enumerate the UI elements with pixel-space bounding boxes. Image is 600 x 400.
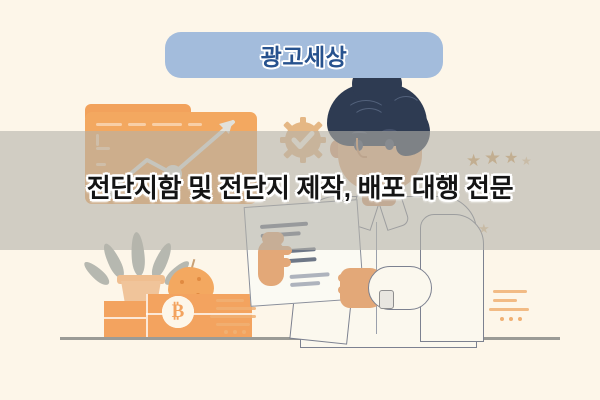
box-seam	[146, 294, 148, 337]
person-hair-strand	[352, 108, 386, 132]
document-line	[290, 281, 320, 287]
receipt-line	[216, 307, 256, 310]
receipt-line	[216, 299, 244, 302]
bitcoin-icon: ₿	[162, 296, 194, 328]
person-finger	[338, 274, 368, 282]
person-cuff	[368, 266, 432, 310]
pear-dot	[197, 277, 201, 281]
receipt-dot	[509, 317, 513, 321]
person-finger	[338, 286, 366, 294]
receipt-dot	[500, 317, 504, 321]
receipt-line	[493, 299, 517, 302]
box-seam	[104, 317, 146, 319]
receipt-line	[216, 323, 250, 326]
person-hair-strand	[390, 96, 422, 122]
receipt-line	[210, 315, 256, 318]
receipt-line	[493, 290, 527, 293]
bitcoin-symbol: ₿	[172, 301, 185, 323]
brand-badge-label: 광고세상	[261, 38, 348, 72]
receipt-line	[489, 308, 529, 311]
page-title: 전단지함 및 전단지 제작, 배포 대행 전문	[0, 168, 600, 205]
promo-banner: ₿	[0, 0, 600, 400]
person-finger	[276, 258, 291, 267]
receipt-dot	[242, 330, 246, 334]
receipt-dot	[518, 317, 522, 321]
document-line	[290, 272, 330, 279]
box-small	[104, 301, 146, 337]
receipt-dot	[233, 330, 237, 334]
person-watch	[379, 290, 394, 309]
pear-dot	[180, 280, 184, 284]
receipt-dot	[224, 330, 228, 334]
brand-badge: 광고세상	[165, 32, 443, 78]
